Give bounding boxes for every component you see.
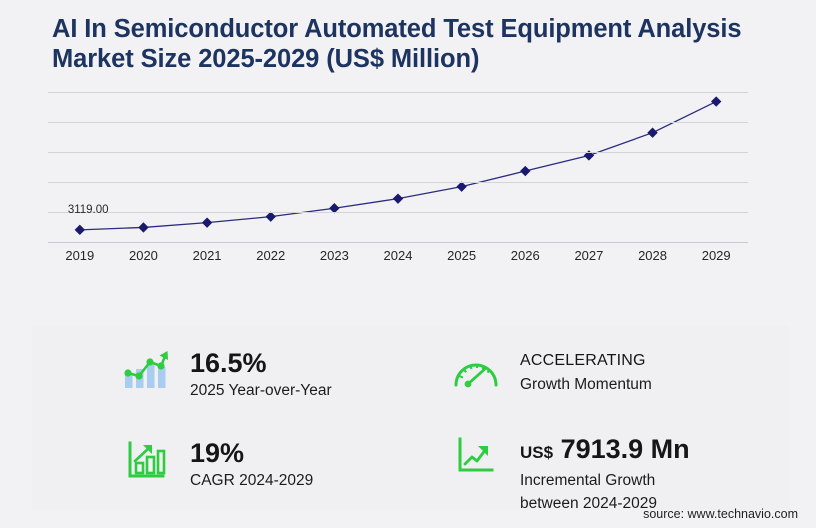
stat-year-over-year-value: 16.5% (190, 348, 332, 378)
chart-data-point (520, 166, 530, 176)
stat-cagr-caption: CAGR 2024-2029 (190, 470, 313, 491)
chart-point-label: 3119.00 (68, 204, 109, 216)
chart-gridline (48, 122, 748, 123)
chart-x-tick-label: 2024 (384, 248, 413, 263)
page-title: AI In Semiconductor Automated Test Equip… (52, 14, 752, 74)
chart-x-tick-label: 2022 (256, 248, 285, 263)
stat-growth-momentum: ACCELERATING Growth Momentum (450, 349, 652, 395)
chart-data-point (393, 193, 403, 203)
chart-gridline (48, 182, 748, 183)
chart-data-point (138, 222, 148, 232)
trend-line-arrow-icon (450, 433, 502, 479)
chart-plot-area: 3119.00 (48, 92, 748, 242)
stat-growth-momentum-caption: Growth Momentum (520, 374, 652, 395)
infographic-root: AI In Semiconductor Automated Test Equip… (0, 0, 816, 528)
stat-cagr-text: 19% CAGR 2024-2029 (190, 437, 313, 491)
market-size-line-chart: 3119.00 20192020202120222023202420252026… (0, 92, 816, 282)
chart-x-axis-line (48, 242, 748, 243)
stat-year-over-year-caption: 2025 Year-over-Year (190, 380, 332, 401)
chart-x-tick-label: 2026 (511, 248, 540, 263)
stat-year-over-year-text: 16.5% 2025 Year-over-Year (190, 347, 332, 401)
chart-gridline (48, 92, 748, 93)
stat-cagr: 19% CAGR 2024-2029 (120, 437, 313, 491)
stat-incremental-growth-caption-1: Incremental Growth (520, 470, 690, 491)
stat-incremental-growth-text: US$ 7913.9 Mn Incremental Growth between… (520, 433, 690, 514)
chart-gridline (48, 152, 748, 153)
chart-data-point (266, 211, 276, 221)
chart-data-point (456, 181, 466, 191)
chart-x-tick-label: 2019 (65, 248, 94, 263)
chart-series-line (48, 92, 748, 242)
chart-data-point (711, 96, 721, 106)
chart-gridline (48, 212, 748, 213)
chart-x-tick-label: 2029 (702, 248, 731, 263)
chart-data-point (202, 217, 212, 227)
stats-panel: 16.5% 2025 Year-over-Year 19% CAGR 2024-… (32, 325, 790, 510)
chart-x-tick-label: 2023 (320, 248, 349, 263)
chart-x-tick-label: 2020 (129, 248, 158, 263)
page-title-line-2: Market Size 2025-2029 (US$ Million) (52, 44, 752, 74)
stat-cagr-value: 19% (190, 438, 313, 468)
chart-x-tick-label: 2021 (193, 248, 222, 263)
stat-growth-momentum-text: ACCELERATING Growth Momentum (520, 349, 652, 395)
bar-chart-arrow-icon (120, 437, 172, 483)
stat-year-over-year: 16.5% 2025 Year-over-Year (120, 347, 332, 401)
chart-x-tick-label: 2025 (447, 248, 476, 263)
stat-incremental-growth-amount: 7913.9 Mn (561, 434, 690, 464)
chart-data-point (75, 225, 85, 235)
chart-x-axis-labels: 2019202020212022202320242025202620272028… (48, 248, 748, 270)
stat-incremental-growth: US$ 7913.9 Mn Incremental Growth between… (450, 433, 690, 514)
stat-growth-momentum-headline: ACCELERATING (520, 350, 652, 372)
source-attribution: source: www.technavio.com (643, 507, 798, 521)
speedometer-icon (450, 349, 502, 395)
bar-line-growth-icon (120, 347, 172, 393)
stat-incremental-growth-value: US$ 7913.9 Mn (520, 434, 690, 468)
chart-data-point (647, 128, 657, 138)
chart-x-tick-label: 2027 (574, 248, 603, 263)
chart-x-tick-label: 2028 (638, 248, 667, 263)
stat-incremental-growth-unit: US$ (520, 443, 553, 462)
chart-line-path (80, 102, 716, 230)
page-title-line-1: AI In Semiconductor Automated Test Equip… (52, 14, 752, 44)
